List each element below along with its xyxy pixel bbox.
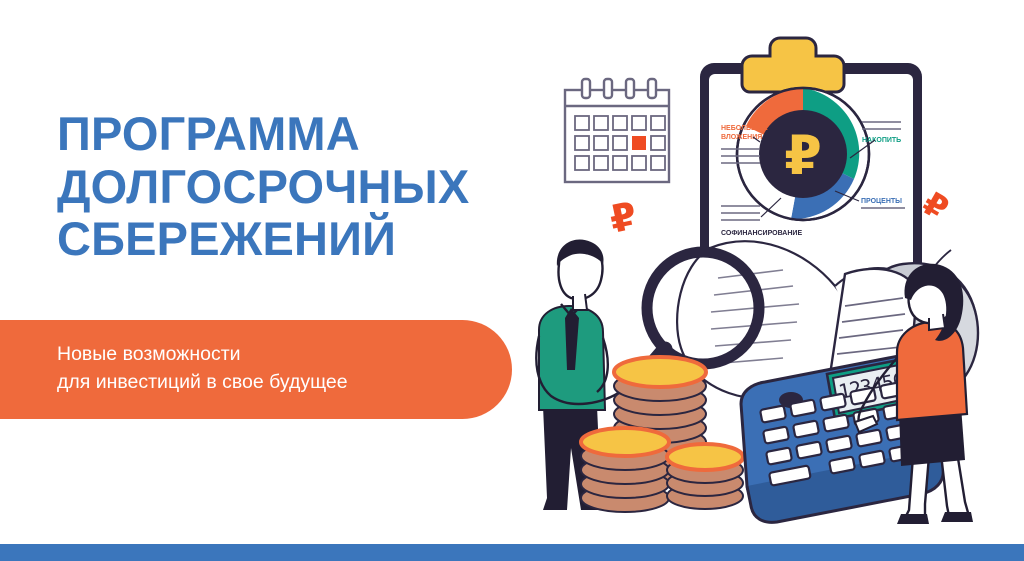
calendar-icon xyxy=(565,79,669,182)
poster-canvas: ПРОГРАММА ДОЛГОСРОЧНЫХ СБЕРЕЖЕНИЙ Новые … xyxy=(0,0,1024,561)
calendar-highlighted-day xyxy=(632,136,646,150)
ruble-icon-left: ₽ xyxy=(606,193,641,242)
svg-text:СОФИНАНСИРОВАНИЕ: СОФИНАНСИРОВАНИЕ xyxy=(721,230,802,237)
svg-text:НЕБОЛЬШИЕ: НЕБОЛЬШИЕ xyxy=(721,125,768,132)
subtitle-line-1: Новые возможности xyxy=(57,340,487,368)
subtitle-line-2: для инвестиций в свое будущее xyxy=(57,368,487,396)
donut-chart-icon: ₽ xyxy=(737,88,869,220)
ruble-symbol-center: ₽ xyxy=(784,124,822,187)
svg-text:ПРОЦЕНТЫ: ПРОЦЕНТЫ xyxy=(861,198,902,205)
headline-line-3: СБЕРЕЖЕНИЙ xyxy=(57,213,577,266)
finance-illustration: ПДС ₽ НЕБОЛЬШИЕ ВЛОЖЕНИЯ xyxy=(505,18,1024,526)
bottom-accent-bar xyxy=(0,544,1024,561)
svg-text:ВЛОЖЕНИЯ: ВЛОЖЕНИЯ xyxy=(721,134,762,141)
subtitle-text: Новые возможности для инвестиций в свое … xyxy=(57,340,487,397)
svg-text:НАКОПИТЬ: НАКОПИТЬ xyxy=(862,137,901,144)
page-title: ПРОГРАММА ДОЛГОСРОЧНЫХ СБЕРЕЖЕНИЙ xyxy=(57,108,577,266)
svg-text:₽: ₽ xyxy=(606,193,641,242)
headline-line-1: ПРОГРАММА xyxy=(57,108,577,161)
headline-line-2: ДОЛГОСРОЧНЫХ xyxy=(57,161,577,214)
